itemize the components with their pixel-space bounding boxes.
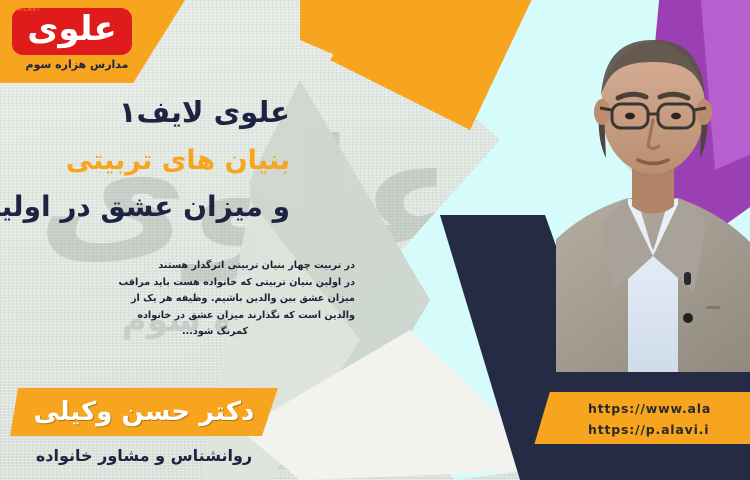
logo-chip: علوی	[12, 8, 132, 55]
description-line-4: والدین است که نگذارند میزان عشق در خانوا…	[75, 308, 355, 325]
logo-subtitle: مدارس هزاره سوم	[14, 58, 140, 71]
logo-text: علوی	[27, 12, 117, 51]
description-paragraph: در تربیت چهار بنیان تربیتی اثرگذار هستند…	[75, 258, 355, 341]
headline-line-3: و میزان عشق در اولین بنیان	[0, 190, 290, 223]
headline-block: علوی لایف۱ بنیان های تربیتی و میزان عشق …	[0, 95, 290, 223]
speaker-role: روانشناس و مشاور خانواده	[10, 446, 278, 465]
description-line-5: کمرنگ شود...	[75, 324, 355, 341]
description-line-3: میزان عشق بین والدین باشیم. وظیفه هر یک …	[75, 291, 355, 308]
headline-line-2: بنیان های تربیتی	[0, 145, 290, 176]
presenter-illustration	[556, 0, 750, 372]
headline-line-1: علوی لایف۱	[0, 95, 290, 129]
speaker-name: دکتر حسن وکیلی	[10, 388, 278, 436]
video-thumbnail: علوی مدارس هزاره سوم	[0, 0, 750, 480]
description-line-1: در تربیت چهار بنیان تربیتی اثرگذار هستند	[75, 258, 355, 275]
description-line-2: در اولین بنیان تربیتی که خانواده هست بای…	[75, 275, 355, 292]
url-list: https://www.ala https://p.alavi.i	[588, 398, 750, 442]
presenter-photo	[556, 0, 750, 372]
url-primary[interactable]: https://www.ala	[588, 398, 750, 419]
url-secondary[interactable]: https://p.alavi.i	[588, 419, 750, 440]
logo-latin-mark: ALAVI	[18, 6, 40, 13]
